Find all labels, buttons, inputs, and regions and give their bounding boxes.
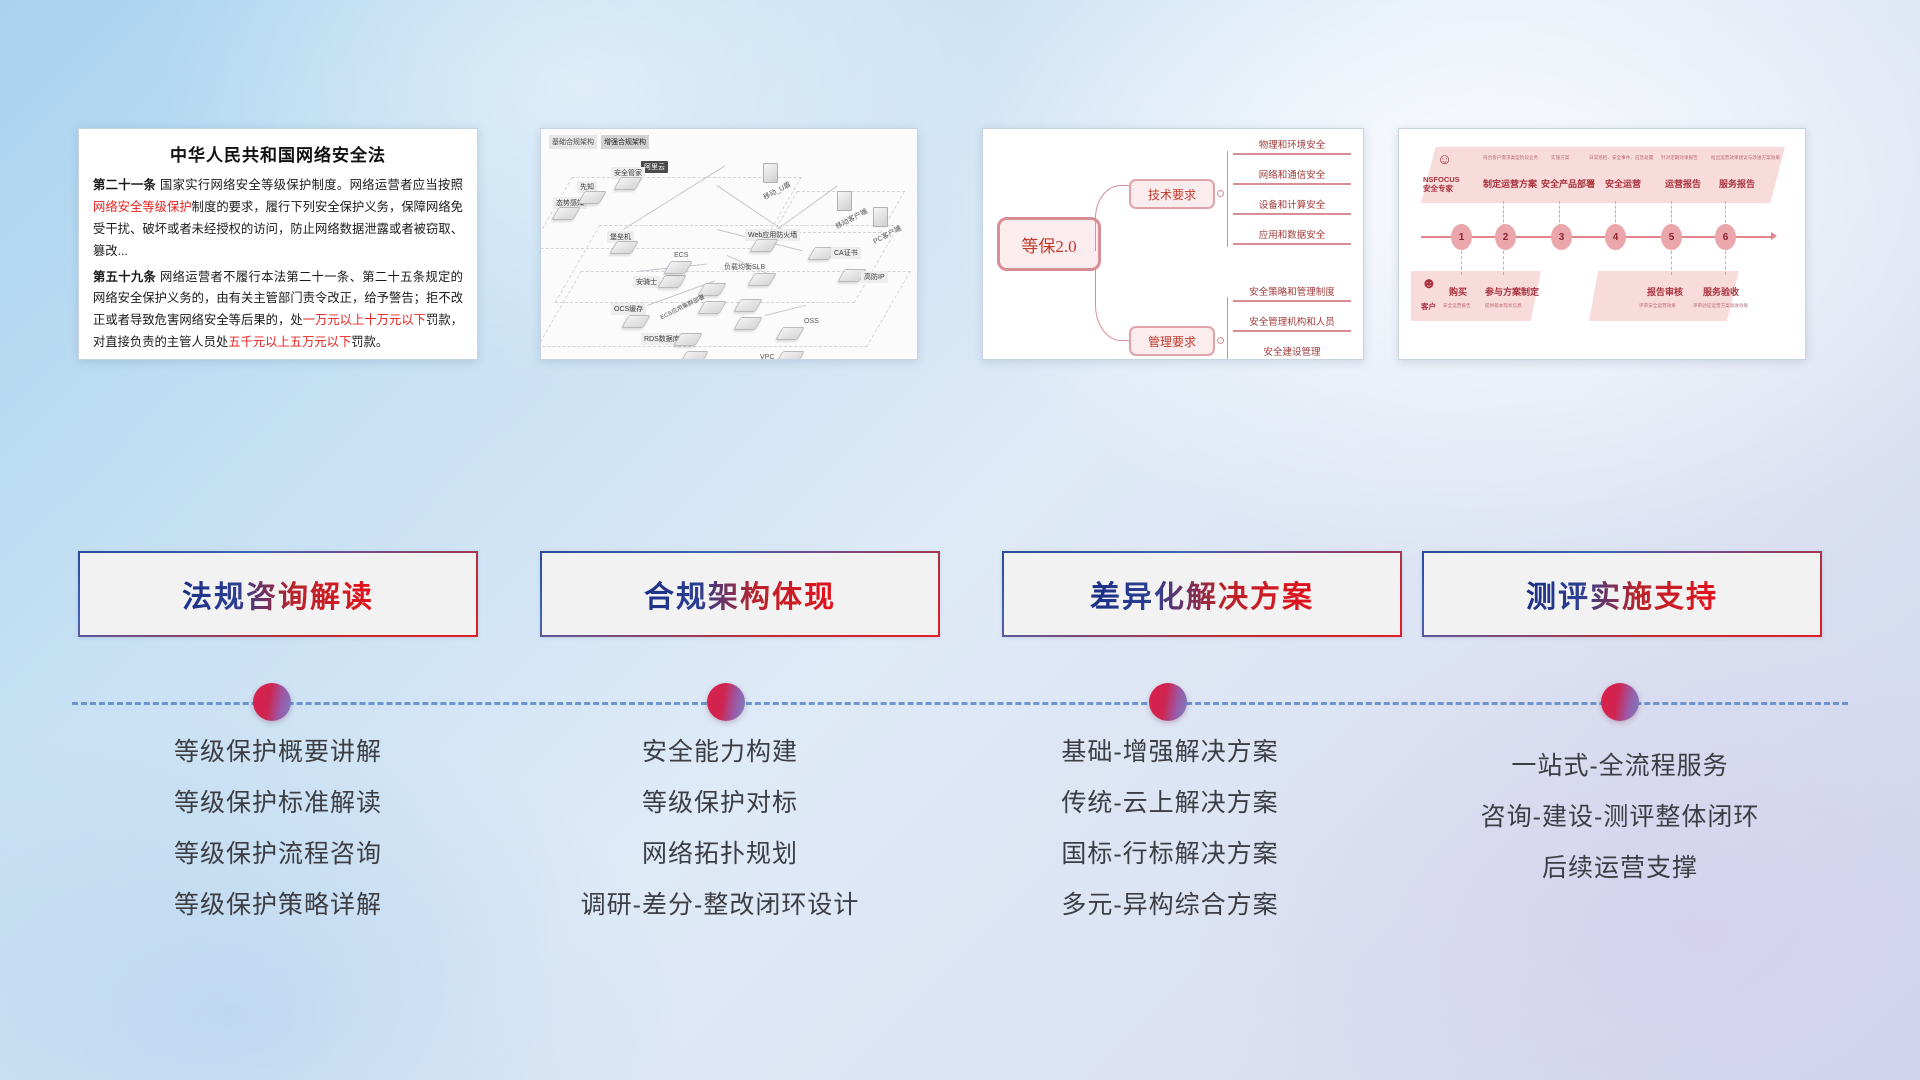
architecture-tab-basic[interactable]: 基础合规架构 xyxy=(549,135,597,149)
customer-role-label: 客户 xyxy=(1421,301,1436,312)
service-top-small-5: 给出运营效果建议与改进方案效果 xyxy=(1711,155,1780,161)
architecture-node-xianzhi: 先知 xyxy=(581,191,603,204)
architecture-icon-ecs-cluster-b xyxy=(697,301,727,314)
section-label-text-1: 法规咨询解读 xyxy=(182,572,374,616)
architecture-icon-mobile-ushield xyxy=(763,163,778,183)
mindmap-spine-technical xyxy=(1227,151,1228,247)
list-item: 国标-行标解决方案 xyxy=(950,842,1390,867)
architecture-label-oss: OSS xyxy=(801,317,822,326)
architecture-node-waf: Web应用防火墙 xyxy=(753,239,775,252)
mindmap-collapse-dot-technical[interactable] xyxy=(1217,190,1224,197)
timeline-dot-1[interactable] xyxy=(253,683,291,721)
service-top-big-3: 安全运营 xyxy=(1605,177,1641,190)
section-label-assessment-support[interactable]: 测评实施支持 xyxy=(1422,551,1822,637)
service-top-big-1: 制定运营方案 xyxy=(1483,177,1537,190)
service-dash-6 xyxy=(1461,251,1462,275)
list-item: 传统-云上解决方案 xyxy=(950,791,1390,816)
section-label-regulation-consulting[interactable]: 法规咨询解读 xyxy=(78,551,478,637)
architecture-node-vpc: VPC xyxy=(779,351,801,360)
list-item: 后续运营支撑 xyxy=(1400,856,1840,881)
law-title: 中华人民共和国网络安全法 xyxy=(93,141,463,166)
architecture-node-db-audit: 数据库审计 xyxy=(683,351,705,360)
service-dash-9 xyxy=(1725,251,1726,275)
service-node-2[interactable]: 2 xyxy=(1495,224,1516,250)
timeline-dashed-line xyxy=(72,702,1848,705)
section-label-text-2: 合规架构体现 xyxy=(644,572,836,616)
architecture-icon-ecs-cluster-d xyxy=(733,317,763,330)
law-body: 中华人民共和国网络安全法 第二十一条 国家实行网络安全等级保护制度。网络运营者应… xyxy=(79,129,477,360)
service-node-3[interactable]: 3 xyxy=(1551,224,1572,250)
architecture-node-mobile-client: 移动客户端 xyxy=(837,191,852,211)
card-law-document[interactable]: 中华人民共和国网络安全法 第二十一条 国家实行网络安全等级保护制度。网络运营者应… xyxy=(78,128,478,360)
detail-list-column-3: 基础-增强解决方案 传统-云上解决方案 国标-行标解决方案 多元-异构综合方案 xyxy=(950,740,1390,944)
architecture-label-vpc: VPC xyxy=(757,353,777,360)
mindmap-leaf-policy-system[interactable]: 安全策略和管理制度 xyxy=(1233,284,1351,302)
list-item: 等级保护流程咨询 xyxy=(58,842,498,867)
customer-person-icon: ☻ xyxy=(1421,275,1437,292)
list-item: 等级保护标准解读 xyxy=(58,791,498,816)
architecture-canvas: 基础合规架构 增强合规架构 阿里云 xyxy=(541,129,917,359)
service-top-small-2: 实施方案 xyxy=(1551,155,1569,161)
service-dash-8 xyxy=(1671,251,1672,275)
list-item: 基础-增强解决方案 xyxy=(950,740,1390,765)
architecture-node-ocs-cache: OCS缓存 xyxy=(625,315,647,328)
law-article-21-label: 第二十一条 xyxy=(93,178,156,192)
card-mindmap[interactable]: 等保2.0 技术要求 管理要求 物理和环境安全 网络和通信安全 设备和计算安全 … xyxy=(982,128,1364,360)
list-item: 等级保护策略详解 xyxy=(58,893,498,918)
architecture-node-security-steward: 安全管家 xyxy=(617,177,639,190)
timeline-dot-4[interactable] xyxy=(1601,683,1639,721)
architecture-node-ecs-cluster-c xyxy=(737,299,759,312)
law-article-59-highlight-2: 五千元以上五万元以下 xyxy=(228,335,351,349)
service-bottom-big-2: 参与方案制定 xyxy=(1485,285,1539,298)
architecture-label-anti-ddos-ip: 高防IP xyxy=(861,271,888,283)
service-bottom-small-3: 评审安全运营效果 xyxy=(1639,303,1676,309)
expert-role-label: NSFOCUS 安全专家 xyxy=(1423,175,1460,194)
section-label-differentiated-solution[interactable]: 差异化解决方案 xyxy=(1002,551,1402,637)
architecture-icon-mobile-client xyxy=(837,191,852,211)
architecture-node-ecs-cluster-d xyxy=(737,317,759,330)
architecture-node-situational-awareness: 态势感知 xyxy=(555,207,577,220)
list-item: 多元-异构综合方案 xyxy=(950,893,1390,918)
service-timeline-canvas: ☺ NSFOCUS 安全专家 符合客户需求类型阶段业务 制定运营方案 实施方案 … xyxy=(1399,129,1805,359)
list-item: 一站式-全流程服务 xyxy=(1400,754,1840,779)
progress-timeline xyxy=(0,693,1920,713)
slide-canvas: 中华人民共和国网络安全法 第二十一条 国家实行网络安全等级保护制度。网络运营者应… xyxy=(0,0,1920,1080)
mindmap-leaf-network-comm[interactable]: 网络和通信安全 xyxy=(1233,167,1351,185)
service-bottom-big-4: 服务验收 xyxy=(1703,285,1739,298)
mindmap-branch-technical[interactable]: 技术要求 xyxy=(1129,179,1215,209)
service-top-small-3: 日常巡检、安全事件、应急处置 xyxy=(1589,155,1653,161)
list-item: 安全能力构建 xyxy=(500,740,940,765)
mindmap-canvas: 等保2.0 技术要求 管理要求 物理和环境安全 网络和通信安全 设备和计算安全 … xyxy=(983,129,1363,359)
law-article-59-text-end: 罚款。 xyxy=(351,335,388,349)
list-item: 网络拓扑规划 xyxy=(500,842,940,867)
architecture-node-bastion: 堡垒机 xyxy=(613,241,635,254)
service-top-big-4: 运营报告 xyxy=(1665,177,1701,190)
list-item: 咨询-建设-测评整体闭环 xyxy=(1400,805,1840,830)
detail-list-column-1: 等级保护概要讲解 等级保护标准解读 等级保护流程咨询 等级保护策略详解 xyxy=(58,740,498,944)
timeline-dot-3[interactable] xyxy=(1149,683,1187,721)
architecture-node-pc-client: PC客户端 xyxy=(873,207,888,227)
architecture-node-mobile-ushield: 移动_U盾 xyxy=(763,163,778,183)
detail-list-column-4: 一站式-全流程服务 咨询-建设-测评整体闭环 后续运营支撑 xyxy=(1400,754,1840,907)
service-node-1[interactable]: 1 xyxy=(1451,224,1472,250)
service-top-big-2: 安全产品部署 xyxy=(1541,177,1595,190)
preview-cards-row: 中华人民共和国网络安全法 第二十一条 国家实行网络安全等级保护制度。网络运营者应… xyxy=(0,128,1920,360)
mindmap-branch-management[interactable]: 管理要求 xyxy=(1129,326,1215,356)
service-bottom-small-2: 提供基本现状信息 xyxy=(1485,303,1522,309)
architecture-label-cloud: 阿里云 xyxy=(641,161,668,173)
mindmap-leaf-org-personnel[interactable]: 安全管理机构和人员 xyxy=(1233,314,1351,332)
service-top-small-4: 针对定期效果报告 xyxy=(1661,155,1698,161)
architecture-node-rds: RDS数据库 xyxy=(677,333,699,346)
mindmap-spine-management xyxy=(1227,297,1228,360)
service-bottom-big-1: 购买 xyxy=(1449,285,1467,298)
law-article-21-highlight: 网络安全等级保护 xyxy=(93,200,192,214)
law-article-21-text-a: 国家实行网络安全等级保护制度。网络运营者应当按照 xyxy=(156,178,463,192)
card-architecture-diagram[interactable]: 基础合规架构 增强合规架构 阿里云 xyxy=(540,128,918,360)
architecture-icon-ecs-cluster-c xyxy=(733,299,763,312)
mindmap-root-node: 等保2.0 xyxy=(997,217,1101,271)
service-top-big-5: 服务报告 xyxy=(1719,177,1755,190)
section-label-text-4: 测评实施支持 xyxy=(1526,572,1718,616)
service-axis-arrow-icon xyxy=(1771,232,1777,240)
law-article-21: 第二十一条 国家实行网络安全等级保护制度。网络运营者应当按照网络安全等级保护制度… xyxy=(93,175,463,263)
card-service-timeline[interactable]: ☺ NSFOCUS 安全专家 符合客户需求类型阶段业务 制定运营方案 实施方案 … xyxy=(1398,128,1806,360)
architecture-node-ecs-cluster: ECS应用集群部署 xyxy=(701,283,723,296)
law-article-59: 第五十九条 网络运营者不履行本法第二十一条、第二十五条规定的网络安全保护义务的，… xyxy=(93,267,463,355)
mindmap-collapse-dot-management[interactable] xyxy=(1217,337,1224,344)
architecture-icon-oss xyxy=(775,327,805,340)
service-node-4[interactable]: 4 xyxy=(1605,224,1626,250)
architecture-tab-enhanced[interactable]: 增强合规架构 xyxy=(601,135,649,149)
mindmap-leaf-construction-mgmt[interactable]: 安全建设管理 xyxy=(1233,344,1351,360)
law-article-59-highlight-1: 一万元以上十万元以下 xyxy=(303,313,426,327)
mindmap-leaf-device-compute[interactable]: 设备和计算安全 xyxy=(1233,197,1351,215)
architecture-label-slb: 负载均衡SLB xyxy=(721,261,768,273)
section-label-compliance-architecture[interactable]: 合规架构体现 xyxy=(540,551,940,637)
architecture-label-ocs-cache: OCS缓存 xyxy=(611,303,646,315)
architecture-label-ecs: ECS xyxy=(671,251,691,260)
timeline-dot-2[interactable] xyxy=(707,683,745,721)
architecture-tabs: 基础合规架构 增强合规架构 xyxy=(549,135,649,149)
architecture-node-ecs-cluster-b xyxy=(701,301,723,314)
list-item: 调研-差分-整改闭环设计 xyxy=(500,893,940,918)
architecture-node-ecs: ECS xyxy=(667,261,689,274)
service-bottom-small-1: 安全运营报告 xyxy=(1443,303,1471,309)
architecture-node-anqishi: 安骑士 xyxy=(661,275,683,288)
service-node-5[interactable]: 5 xyxy=(1661,224,1682,250)
architecture-node-ca-cert: CA证书 xyxy=(811,247,833,260)
service-bottom-big-3: 报告审核 xyxy=(1647,285,1683,298)
architecture-icon-vpc xyxy=(775,351,805,360)
service-node-6[interactable]: 6 xyxy=(1715,224,1736,250)
architecture-node-oss: OSS xyxy=(779,327,801,340)
architecture-icon-ocs-cache xyxy=(621,315,651,328)
architecture-node-slb: 负载均衡SLB xyxy=(751,273,773,286)
architecture-node-anti-ddos-ip: 高防IP xyxy=(841,269,863,282)
architecture-icon-ecs xyxy=(663,261,693,274)
architecture-label-anqishi: 安骑士 xyxy=(633,276,660,288)
architecture-icon-anqishi xyxy=(657,275,687,288)
mindmap-leaf-app-data[interactable]: 应用和数据安全 xyxy=(1233,227,1351,245)
architecture-label-ca-cert: CA证书 xyxy=(831,247,861,259)
section-detail-lists: 等级保护概要讲解 等级保护标准解读 等级保护流程咨询 等级保护策略详解 安全能力… xyxy=(0,740,1920,960)
service-bottom-small-4: 评审验证运营方案验收效果 xyxy=(1693,303,1748,309)
expert-person-icon: ☺ xyxy=(1437,151,1452,168)
mindmap-leaf-physical-env[interactable]: 物理和环境安全 xyxy=(1233,137,1351,155)
service-top-small-1: 符合客户需求类型阶段业务 xyxy=(1483,155,1538,161)
section-labels-row: 法规咨询解读 合规架构体现 差异化解决方案 测评实施支持 xyxy=(0,551,1920,637)
service-dash-7 xyxy=(1503,251,1504,275)
architecture-icon-slb xyxy=(747,273,777,286)
list-item: 等级保护概要讲解 xyxy=(58,740,498,765)
section-label-text-3: 差异化解决方案 xyxy=(1090,572,1314,616)
detail-list-column-2: 安全能力构建 等级保护对标 网络拓扑规划 调研-差分-整改闭环设计 xyxy=(500,740,940,944)
law-article-59-label: 第五十九条 xyxy=(93,270,156,284)
architecture-icon-pc-client xyxy=(873,207,888,227)
list-item: 等级保护对标 xyxy=(500,791,940,816)
architecture-icon-db-audit xyxy=(679,351,709,360)
